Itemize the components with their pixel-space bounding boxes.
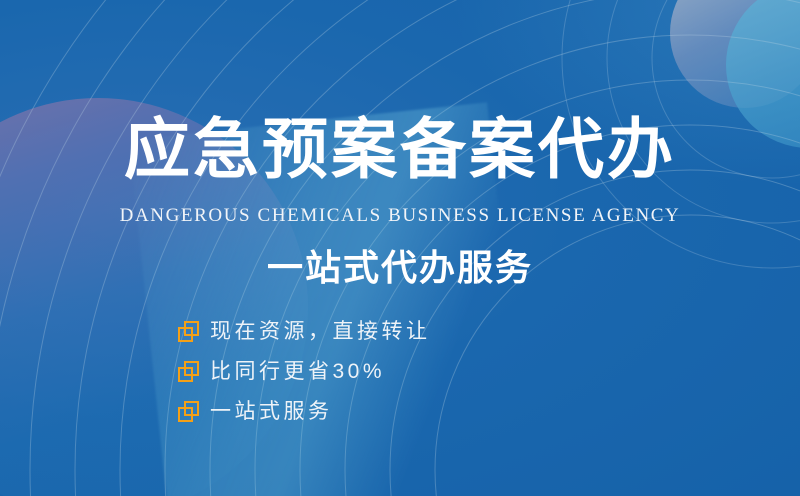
overlapping-squares-icon [178,401,199,422]
service-subheading: 一站式代办服务 [0,245,800,290]
overlapping-squares-icon [178,361,199,382]
feature-list: 现在资源，直接转让 比同行更省30% 一站式服务 [178,318,431,424]
promo-banner: 应急预案备案代办 DANGEROUS CHEMICALS BUSINESS LI… [0,0,800,496]
overlapping-squares-icon [178,321,199,342]
list-item: 现在资源，直接转让 [178,318,431,344]
list-item-label: 现在资源，直接转让 [210,321,431,342]
page-title: 应急预案备案代办 [0,116,800,182]
english-subtitle: DANGEROUS CHEMICALS BUSINESS LICENSE AGE… [0,205,800,227]
list-item: 一站式服务 [178,398,431,424]
list-item-label: 比同行更省30% [210,361,385,382]
banner-content: 应急预案备案代办 DANGEROUS CHEMICALS BUSINESS LI… [0,0,800,496]
list-item: 比同行更省30% [178,358,431,384]
list-item-label: 一站式服务 [210,401,333,422]
